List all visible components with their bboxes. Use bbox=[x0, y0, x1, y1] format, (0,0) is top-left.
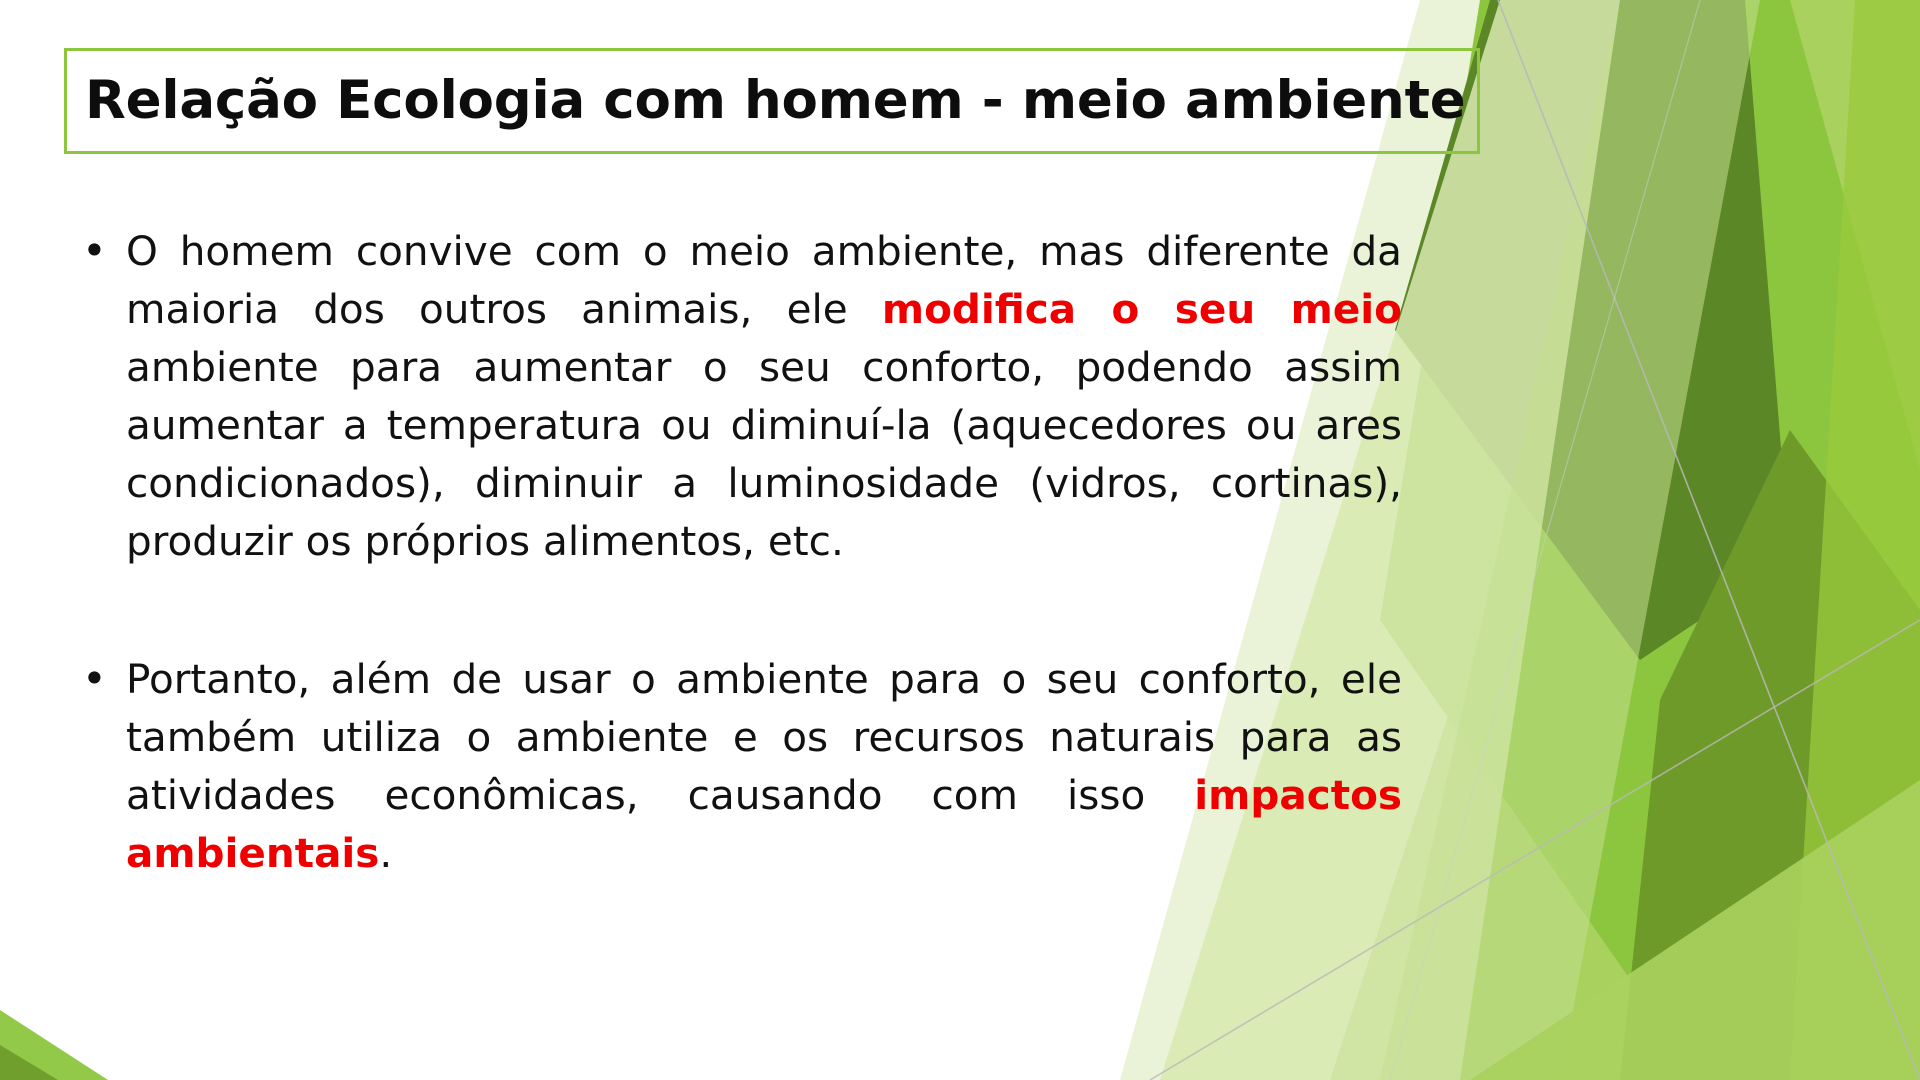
bullet-marker-icon: • bbox=[72, 222, 126, 280]
decor-olive-wedge bbox=[1620, 430, 1920, 1080]
bullet-1-segment-3: ambiente para aumentar o seu conforto, p… bbox=[126, 343, 1402, 565]
page-title: Relação Ecologia com homem - meio ambien… bbox=[85, 73, 1465, 129]
bullet-marker-icon: • bbox=[72, 650, 126, 708]
list-item: • Portanto, além de usar o ambiente para… bbox=[72, 650, 1402, 882]
slide-body: • O homem convive com o meio ambiente, m… bbox=[72, 222, 1402, 882]
decor-bottomleft-sliver bbox=[0, 1010, 108, 1080]
decor-hairline-1 bbox=[1498, 0, 1920, 1080]
bullet-text-1: O homem convive com o meio ambiente, mas… bbox=[126, 222, 1402, 570]
list-item: • O homem convive com o meio ambiente, m… bbox=[72, 222, 1402, 570]
decor-lower-right-triangle bbox=[1470, 780, 1920, 1080]
slide-title-box: Relação Ecologia com homem - meio ambien… bbox=[64, 48, 1480, 154]
bullet-1-highlight: modifica o seu meio bbox=[882, 285, 1402, 333]
decor-bottomleft-sliver-light bbox=[0, 1045, 58, 1080]
presentation-slide: Relação Ecologia com homem - meio ambien… bbox=[0, 0, 1920, 1080]
decor-soft-diagonal-band bbox=[1380, 0, 1760, 1080]
decor-bright-right-field bbox=[1330, 0, 1920, 1080]
decor-accent-strip bbox=[1790, 0, 1920, 1080]
decor-hairline-3 bbox=[1390, 0, 1700, 1080]
bullet-2-segment-3: . bbox=[379, 829, 392, 877]
bullet-text-2: Portanto, além de usar o ambiente para o… bbox=[126, 650, 1402, 882]
decor-mid-green-wedge bbox=[1380, 0, 1920, 1080]
